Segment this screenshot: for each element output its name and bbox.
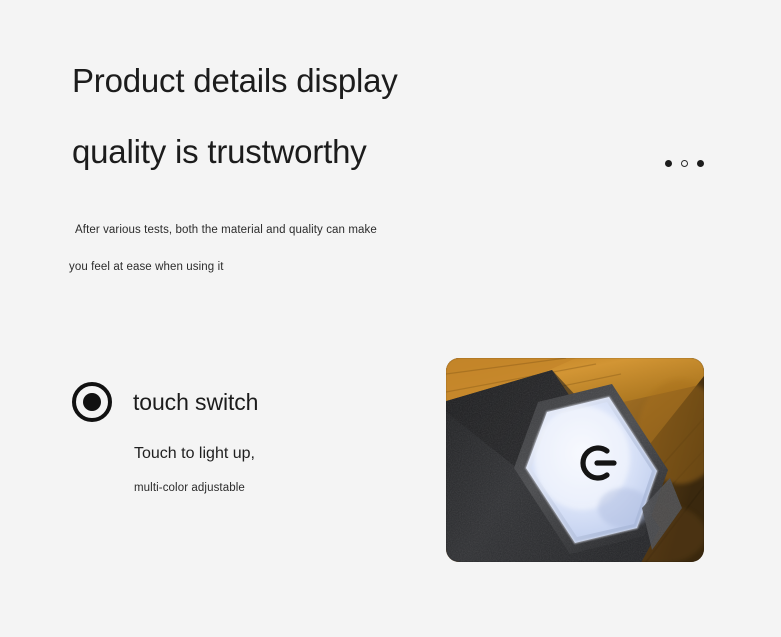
product-detail-page: Product details display quality is trust… [0, 0, 781, 637]
page-title-line-1: Product details display [72, 45, 492, 116]
feature-subtitle: Touch to light up, [134, 445, 412, 463]
target-ring-icon [72, 382, 112, 422]
page-title: Product details display quality is trust… [72, 45, 492, 187]
subtitle-line-1: After various tests, both the material a… [69, 212, 489, 249]
feature-note: multi-color adjustable [134, 482, 412, 494]
product-photo-touch-panel [446, 358, 704, 562]
carousel-dot-3[interactable] [697, 160, 704, 167]
carousel-dot-1[interactable] [665, 160, 672, 167]
feature-title: touch switch [133, 389, 258, 416]
subtitle-line-2: you feel at ease when using it [69, 249, 489, 286]
feature-header: touch switch [72, 380, 412, 424]
target-ring-icon-core [83, 393, 101, 411]
feature-touch-switch: touch switch Touch to light up, multi-co… [72, 380, 412, 494]
subtitle-block: After various tests, both the material a… [69, 212, 489, 286]
carousel-dot-2[interactable] [681, 160, 688, 167]
page-title-line-2: quality is trustworthy [72, 116, 492, 187]
product-photo-illustration [446, 358, 704, 562]
carousel-indicator[interactable] [665, 160, 704, 167]
